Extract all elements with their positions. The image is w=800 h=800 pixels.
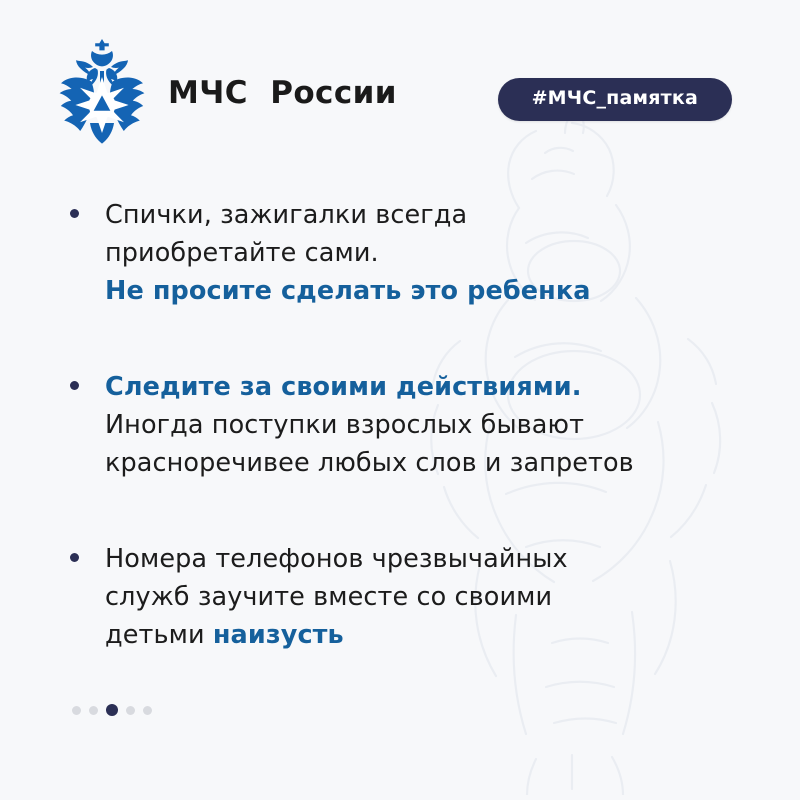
tip-line: Иногда поступки взрослых бывают xyxy=(105,406,682,444)
list-item: Номера телефонов чрезвычайных служб зауч… xyxy=(62,540,682,654)
brand: МЧС России xyxy=(50,34,397,152)
infographic-page: МЧС России #МЧС_памятка Спички, зажигалк… xyxy=(0,0,800,800)
bullet-dot-icon xyxy=(70,209,79,218)
tip-line-accent: Не просите сделать это ребенка xyxy=(105,272,682,310)
pagination-dot-active[interactable] xyxy=(106,704,118,716)
bullet-dot-icon xyxy=(70,381,79,390)
hashtag-badge[interactable]: #МЧС_памятка xyxy=(498,78,732,121)
pagination-dots[interactable] xyxy=(72,704,152,716)
tips-list: Спички, зажигалки всегда приобретайте са… xyxy=(62,196,682,654)
tip-line-accent: Следите за своими действиями. xyxy=(105,368,682,406)
list-item: Следите за своими действиями. Иногда пос… xyxy=(62,368,682,482)
tip-line: Номера телефонов чрезвычайных xyxy=(105,540,682,578)
tip-line: детьми наизусть xyxy=(105,616,682,654)
list-item: Спички, зажигалки всегда приобретайте са… xyxy=(62,196,682,310)
tip-line: служб заучите вместе со своими xyxy=(105,578,682,616)
tip-line: приобретайте сами. xyxy=(105,234,682,272)
header: МЧС России #МЧС_памятка xyxy=(0,34,800,152)
pagination-dot[interactable] xyxy=(143,706,152,715)
bullet-dot-icon xyxy=(70,553,79,562)
emercom-eagle-emblem-icon xyxy=(50,37,154,149)
pagination-dot[interactable] xyxy=(72,706,81,715)
tip-line: Спички, зажигалки всегда xyxy=(105,196,682,234)
page-title: МЧС России xyxy=(168,78,397,109)
tip-line: красноречивее любых слов и запретов xyxy=(105,444,682,482)
pagination-dot[interactable] xyxy=(126,706,135,715)
tip-line-text: детьми xyxy=(105,620,213,650)
tip-line-accent: наизусть xyxy=(213,620,344,650)
pagination-dot[interactable] xyxy=(89,706,98,715)
